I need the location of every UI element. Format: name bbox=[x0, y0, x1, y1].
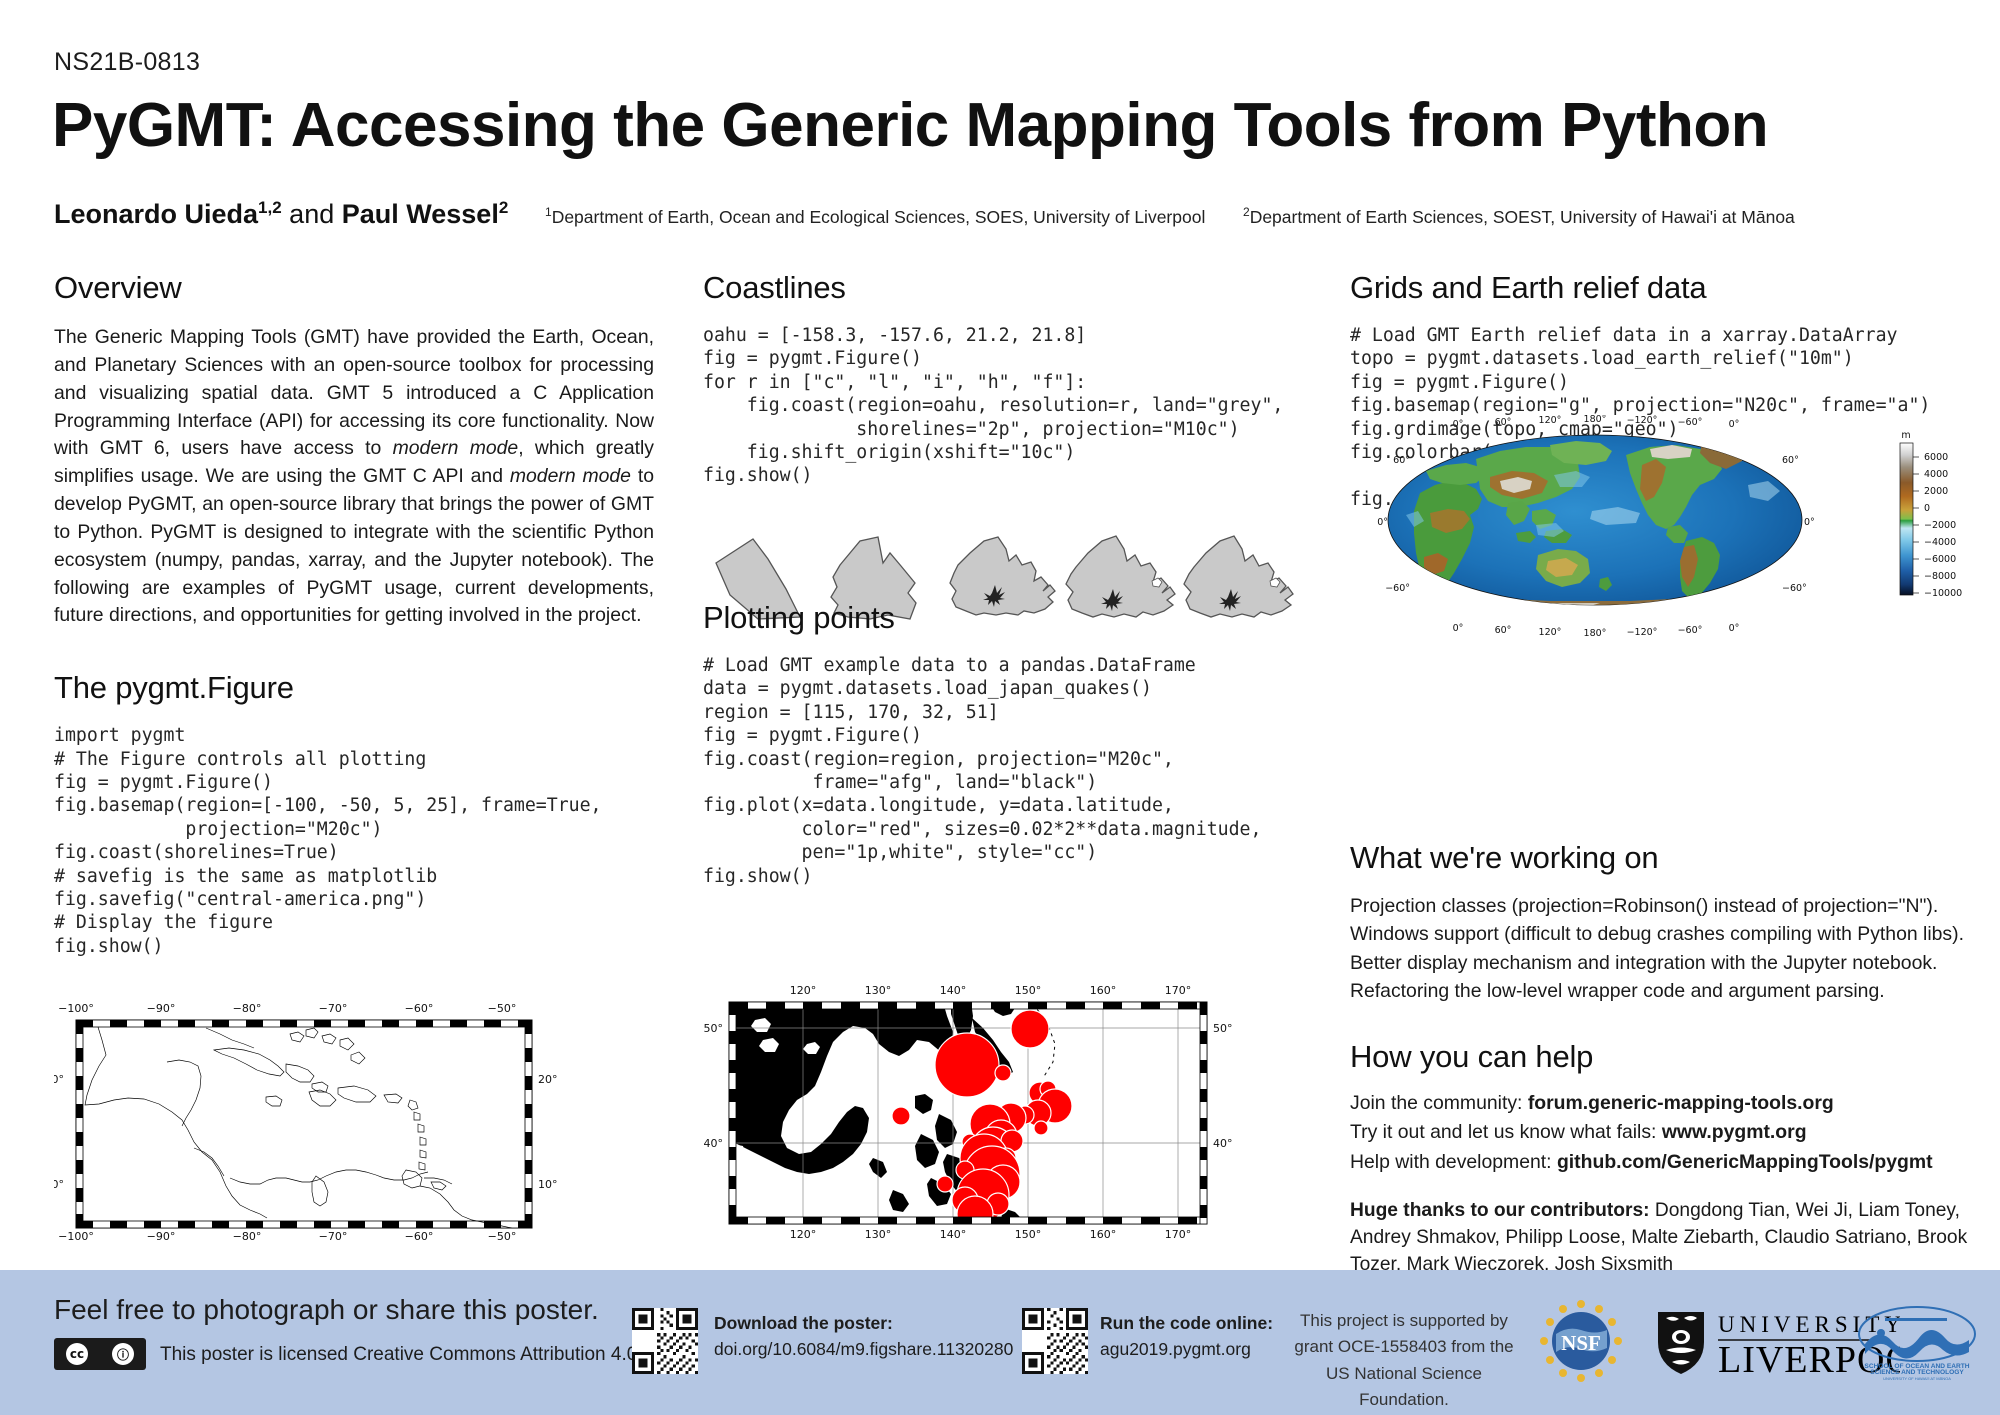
colorbar-tick: 4000 bbox=[1924, 469, 1948, 480]
ytick-label: 40° bbox=[704, 1137, 724, 1150]
ytick-label: 0° bbox=[1804, 517, 1815, 528]
poster-header: NS21B-0813 PyGMT: Accessing the Generic … bbox=[0, 0, 2000, 262]
soest-logo: SCHOOL OF OCEAN AND EARTH SCIENCE AND TE… bbox=[1855, 1304, 1980, 1382]
affiliation-2-text: Department of Earth Sciences, SOEST, Uni… bbox=[1250, 207, 1795, 227]
qr-code-runcode-icon[interactable] bbox=[1022, 1308, 1088, 1374]
xtick-label: −90° bbox=[147, 1230, 176, 1243]
ytick-label: 20° bbox=[54, 1073, 64, 1086]
cc-by-glyph: ⓘ bbox=[112, 1343, 134, 1365]
xtick-label: 130° bbox=[865, 984, 892, 997]
colorbar-tick: 6000 bbox=[1924, 452, 1948, 463]
author-2: Paul Wessel bbox=[342, 199, 499, 229]
qr-runcode-title: Run the code online: bbox=[1100, 1313, 1273, 1333]
creative-commons-icon: cc ⓘ bbox=[54, 1338, 146, 1370]
colorbar-tick: 2000 bbox=[1924, 486, 1948, 497]
xtick-label: 140° bbox=[940, 1228, 967, 1241]
link-forum[interactable]: forum.generic-mapping-tools.org bbox=[1528, 1092, 1834, 1114]
ytick-label: 50° bbox=[1213, 1022, 1233, 1035]
footer-share-text: Feel free to photograph or share this po… bbox=[54, 1294, 599, 1326]
ytick-label: −60° bbox=[1782, 583, 1807, 594]
xtick-label: 180° bbox=[1584, 415, 1607, 425]
ytick-label: 60° bbox=[1393, 455, 1410, 466]
section-heading-working-on: What we're working on bbox=[1350, 840, 1970, 876]
author-2-sup: 2 bbox=[499, 198, 508, 217]
colorbar-gradient bbox=[1900, 443, 1913, 595]
grant-text: This project is supported by grant OCE-1… bbox=[1294, 1308, 1514, 1413]
colorbar-tick: −4000 bbox=[1924, 537, 1956, 548]
qr-poster-value: doi.org/10.6084/m9.figshare.11320280 bbox=[714, 1339, 1013, 1359]
link-pygmt-site[interactable]: www.pygmt.org bbox=[1662, 1121, 1807, 1143]
xtick-label: 0° bbox=[1729, 623, 1740, 634]
colorbar-unit-label: m bbox=[1901, 430, 1910, 441]
list-item: Projection classes (projection=Robinson(… bbox=[1350, 892, 1970, 920]
soest-line-2: SCIENCE AND TECHNOLOGY bbox=[1870, 1369, 1964, 1376]
section-heading-pygmt-figure: The pygmt.Figure bbox=[54, 670, 654, 706]
cc-glyph: cc bbox=[66, 1343, 88, 1365]
quake-marker bbox=[892, 1107, 910, 1125]
xtick-label: 60° bbox=[1495, 417, 1512, 428]
ytick-label: 40° bbox=[1213, 1137, 1233, 1150]
help-links: Join the community: forum.generic-mappin… bbox=[1350, 1089, 1970, 1176]
section-heading-how-you-can-help: How you can help bbox=[1350, 1039, 1970, 1075]
xtick-label: −60° bbox=[405, 1002, 434, 1015]
xtick-label: −70° bbox=[319, 1002, 348, 1015]
ytick-label: −60° bbox=[1385, 583, 1410, 594]
section-heading-grids: Grids and Earth relief data bbox=[1350, 270, 1950, 306]
section-heading-overview: Overview bbox=[54, 270, 654, 306]
qr-runcode-value: agu2019.pygmt.org bbox=[1100, 1339, 1251, 1359]
help-label-community: Join the community: bbox=[1350, 1092, 1528, 1114]
column-left: Overview The Generic Mapping Tools (GMT)… bbox=[54, 270, 654, 958]
xtick-label: −120° bbox=[1627, 415, 1658, 426]
list-item: Better display mechanism and integration… bbox=[1350, 949, 1970, 977]
xtick-label: 170° bbox=[1165, 984, 1192, 997]
affiliation-1-sup: 1 bbox=[545, 205, 552, 219]
page-title: PyGMT: Accessing the Generic Mapping Too… bbox=[52, 90, 1768, 161]
xtick-label: 0° bbox=[1729, 419, 1740, 430]
xtick-label: 160° bbox=[1090, 984, 1117, 997]
xtick-label: 0° bbox=[1453, 419, 1464, 430]
xtick-label: 150° bbox=[1015, 984, 1042, 997]
xtick-label: −100° bbox=[58, 1002, 94, 1015]
help-label-tryout: Try it out and let us know what fails: bbox=[1350, 1121, 1662, 1143]
overview-text-c: to develop PyGMT, an open-source library… bbox=[54, 465, 654, 626]
colorbar-tick: 0 bbox=[1924, 503, 1930, 514]
qr-code-poster-icon[interactable] bbox=[632, 1308, 698, 1374]
soest-line-3: UNIVERSITY OF HAWAI'I AT MĀNOA bbox=[1883, 1376, 1951, 1381]
column-middle: Coastlines oahu = [-158.3, -157.6, 21.2,… bbox=[703, 270, 1313, 488]
column-right-lower: What we're working on Projection classes… bbox=[1350, 840, 1970, 1278]
help-line-community: Join the community: forum.generic-mappin… bbox=[1350, 1089, 1970, 1118]
xtick-label: −120° bbox=[1627, 627, 1658, 638]
affiliation-1-text: Department of Earth, Ocean and Ecologica… bbox=[552, 207, 1206, 227]
central-america-svg: −100° −90° −80° −70° −60° −50° −100° −90… bbox=[54, 1000, 654, 1245]
xtick-label: −60° bbox=[1678, 417, 1703, 428]
link-github-repo[interactable]: github.com/GenericMappingTools/pygmt bbox=[1557, 1151, 1933, 1173]
affiliation-1: 1Department of Earth, Ocean and Ecologic… bbox=[545, 205, 1205, 228]
xtick-label: 150° bbox=[1015, 1228, 1042, 1241]
xtick-label: 120° bbox=[790, 1228, 817, 1241]
quake-marker bbox=[935, 1033, 999, 1097]
xtick-label: −70° bbox=[319, 1230, 348, 1243]
xtick-label: −80° bbox=[233, 1230, 262, 1243]
working-on-list: Projection classes (projection=Robinson(… bbox=[1350, 892, 1970, 1005]
quake-marker bbox=[1011, 1010, 1049, 1048]
qr-runcode-caption: Run the code online: agu2019.pygmt.org bbox=[1100, 1310, 1273, 1363]
earth-relief-svg: 0° 60° 120° 180° −120° −60° 0° 0° 60° 12… bbox=[1350, 415, 2000, 640]
xtick-label: −50° bbox=[488, 1230, 517, 1243]
column-middle-lower: Plotting points # Load GMT example data … bbox=[703, 600, 1313, 888]
xtick-label: 130° bbox=[865, 1228, 892, 1241]
author-join: and bbox=[282, 199, 342, 229]
xtick-label: 120° bbox=[1539, 627, 1562, 638]
list-item: Windows support (difficult to debug cras… bbox=[1350, 920, 1970, 948]
map-plot-area bbox=[76, 1020, 532, 1228]
contributors-label: Huge thanks to our contributors: bbox=[1350, 1200, 1650, 1221]
xtick-label: −90° bbox=[147, 1002, 176, 1015]
author-1: Leonardo Uieda bbox=[54, 199, 258, 229]
affiliation-2-sup: 2 bbox=[1243, 205, 1250, 219]
contributors-block: Huge thanks to our contributors: Dongdon… bbox=[1350, 1197, 1970, 1279]
xtick-label: 140° bbox=[940, 984, 967, 997]
colorbar: m 6000 4000 2000 0 bbox=[1900, 430, 1962, 599]
xtick-label: −50° bbox=[488, 1002, 517, 1015]
poster-footer: Feel free to photograph or share this po… bbox=[0, 1270, 2000, 1415]
affiliation-2: 2Department of Earth Sciences, SOEST, Un… bbox=[1243, 205, 1795, 228]
xtick-label: 120° bbox=[790, 984, 817, 997]
help-line-tryout: Try it out and let us know what fails: w… bbox=[1350, 1118, 1970, 1147]
author-list: Leonardo Uieda1,2 and Paul Wessel2 bbox=[54, 198, 508, 230]
colorbar-tick: −10000 bbox=[1924, 588, 1962, 599]
figure-earth-relief-map: 0° 60° 120° 180° −120° −60° 0° 0° 60° 12… bbox=[1350, 415, 2000, 635]
code-block-plotting-points: # Load GMT example data to a pandas.Data… bbox=[703, 654, 1313, 888]
help-label-development: Help with development: bbox=[1350, 1151, 1557, 1173]
nsf-logo-icon: NSF bbox=[1540, 1300, 1622, 1382]
colorbar-tick: −2000 bbox=[1924, 520, 1956, 531]
quake-marker bbox=[957, 1196, 993, 1232]
overview-emphasis-1: modern mode bbox=[393, 437, 519, 459]
ytick-label: 20° bbox=[538, 1073, 558, 1086]
help-line-development: Help with development: github.com/Generi… bbox=[1350, 1148, 1970, 1177]
abstract-id: NS21B-0813 bbox=[54, 48, 200, 77]
nsf-label: NSF bbox=[1561, 1331, 1601, 1355]
section-heading-coastlines: Coastlines bbox=[703, 270, 1313, 306]
figure-japan-quakes-map: 120° 130° 140° 150° 160° 170° 120° 130° … bbox=[703, 982, 1313, 1244]
quake-marker bbox=[1034, 1121, 1048, 1135]
xtick-label: 120° bbox=[1539, 415, 1562, 426]
japan-quakes-svg: 120° 130° 140° 150° 160° 170° 120° 130° … bbox=[703, 982, 1313, 1244]
ytick-label: 50° bbox=[704, 1022, 724, 1035]
code-block-pygmt-figure: import pygmt # The Figure controls all p… bbox=[54, 724, 654, 958]
qr-poster-caption: Download the poster: doi.org/10.6084/m9.… bbox=[714, 1310, 1013, 1363]
xtick-label: −80° bbox=[233, 1002, 262, 1015]
overview-emphasis-2: modern mode bbox=[510, 465, 631, 487]
xtick-label: −100° bbox=[58, 1230, 94, 1243]
soest-logo-svg: SCHOOL OF OCEAN AND EARTH SCIENCE AND TE… bbox=[1855, 1304, 1980, 1382]
qr-poster-title: Download the poster: bbox=[714, 1313, 893, 1333]
xtick-label: 170° bbox=[1165, 1228, 1192, 1241]
author-1-sup: 1,2 bbox=[258, 198, 282, 217]
section-heading-plotting-points: Plotting points bbox=[703, 600, 1313, 636]
ytick-label: 60° bbox=[1782, 455, 1799, 466]
xtick-label: 160° bbox=[1090, 1228, 1117, 1241]
quake-marker bbox=[937, 1176, 953, 1192]
xtick-label: −60° bbox=[1678, 625, 1703, 636]
xtick-label: 180° bbox=[1584, 628, 1607, 639]
colorbar-tick: −6000 bbox=[1924, 554, 1956, 565]
ytick-label: 10° bbox=[538, 1178, 558, 1191]
xtick-label: 0° bbox=[1453, 623, 1464, 634]
xtick-label: 60° bbox=[1495, 625, 1512, 636]
quake-marker bbox=[995, 1065, 1011, 1081]
xtick-label: −60° bbox=[405, 1230, 434, 1243]
code-block-coastlines: oahu = [-158.3, -157.6, 21.2, 21.8] fig … bbox=[703, 324, 1313, 488]
figure-central-america-map: −100° −90° −80° −70° −60° −50° −100° −90… bbox=[54, 1000, 654, 1245]
ytick-label: 10° bbox=[54, 1178, 64, 1191]
poster-canvas: NS21B-0813 PyGMT: Accessing the Generic … bbox=[0, 0, 2000, 1415]
ytick-label: 0° bbox=[1377, 517, 1388, 528]
license-text: This poster is licensed Creative Commons… bbox=[160, 1344, 643, 1366]
overview-paragraph: The Generic Mapping Tools (GMT) have pro… bbox=[54, 324, 654, 630]
colorbar-tick: −8000 bbox=[1924, 571, 1956, 582]
list-item: Refactoring the low-level wrapper code a… bbox=[1350, 977, 1970, 1005]
